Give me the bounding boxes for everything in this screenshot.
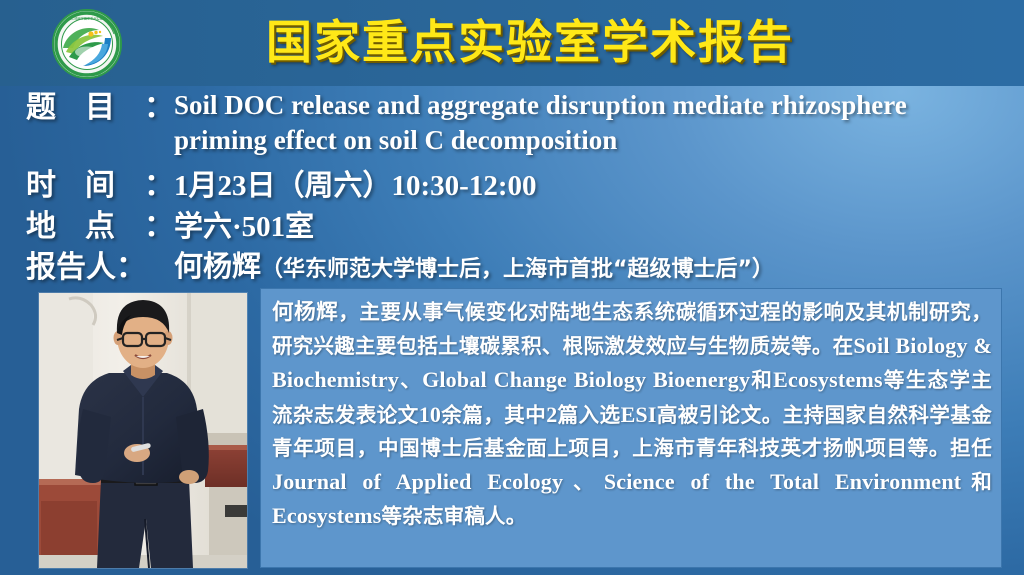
value-place: 学六·501室 — [174, 207, 314, 247]
label-place-colon: ： — [144, 207, 174, 247]
speaker-affiliation: （华东师范大学博士后，上海市首批“超级博士后”） — [261, 257, 774, 282]
label-title-char-2: 目 — [85, 88, 115, 128]
label-title: 题 目 ： — [26, 88, 174, 128]
info-row-place: 地 点 ： 学六·501室 — [26, 207, 314, 247]
label-time-char-2: 间 — [85, 166, 115, 206]
label-speaker-text: 报告人： — [26, 248, 146, 288]
page-title: 国家重点实验室学术报告 — [180, 13, 880, 71]
label-time-colon: ： — [144, 166, 174, 206]
speaker-bio-panel: 何杨辉，主要从事气候变化对陆地生态系统碳循环过程的影响及其机制研究，研究兴趣主要… — [260, 288, 1002, 568]
speaker-photo — [39, 293, 247, 568]
label-time-char-1: 时 — [26, 166, 56, 206]
bio-segment-17: 和 — [961, 470, 992, 494]
bio-segment-3: 、 — [399, 368, 422, 392]
institution-logo-icon: 河口海岸学国家重点实验室 STATE KEY LABORATORY — [51, 8, 123, 80]
bio-segment-14: Journal of Applied Ecology — [272, 469, 563, 494]
seminar-poster: 河口海岸学国家重点实验室 STATE KEY LABORATORY 国家重点实验… — [0, 0, 1024, 575]
value-speaker: 何杨辉（华东师范大学博士后，上海市首批“超级博士后”） — [174, 248, 774, 289]
bio-segment-18: Ecosystems — [272, 503, 382, 528]
bio-segment-16: Science of the Total Environment — [604, 469, 962, 494]
value-talk-title: Soil DOC release and aggregate disruptio… — [174, 88, 1004, 158]
logo-emblem-icon: 河口海岸学国家重点实验室 STATE KEY LABORATORY — [51, 8, 123, 80]
bio-segment-11: 篇入选 — [557, 403, 620, 427]
speaker-photo-image — [39, 293, 247, 568]
bio-segment-19: 等杂志审稿人。 — [382, 504, 527, 528]
bio-segment-10: 2 — [546, 402, 557, 427]
info-row-speaker: 报告人： 何杨辉（华东师范大学博士后，上海市首批“超级博士后”） — [26, 248, 774, 289]
bio-segment-0: 何杨辉 — [272, 300, 338, 325]
bio-segment-15: 、 — [563, 470, 604, 494]
bio-segment-8: 10 — [419, 402, 441, 427]
bio-segment-9: 余篇，其中 — [441, 403, 546, 427]
label-place: 地 点 ： — [26, 207, 174, 247]
bio-segment-6: Ecosystems — [773, 367, 883, 392]
label-place-char-2: 点 — [85, 207, 115, 247]
label-title-colon: ： — [144, 88, 174, 128]
info-row-title: 题 目 ： Soil DOC release and aggregate dis… — [26, 88, 1004, 158]
svg-text:STATE KEY LABORATORY: STATE KEY LABORATORY — [71, 72, 103, 76]
speaker-bio-text: 何杨辉，主要从事气候变化对陆地生态系统碳循环过程的影响及其机制研究，研究兴趣主要… — [272, 296, 992, 533]
label-place-char-1: 地 — [26, 207, 56, 247]
label-title-char-1: 题 — [26, 88, 56, 128]
value-time: 1月23日（周六）10:30-12:00 — [174, 166, 536, 206]
bio-segment-5: 和 — [750, 368, 773, 392]
speaker-name: 何杨辉 — [174, 251, 261, 283]
info-row-time: 时 间 ： 1月23日（周六）10:30-12:00 — [26, 166, 536, 206]
bio-segment-12: ESI — [621, 402, 657, 427]
bio-segment-4: Global Change Biology Bioenergy — [422, 367, 750, 392]
label-speaker: 报告人： — [26, 248, 174, 288]
svg-text:河口海岸学国家重点实验室: 河口海岸学国家重点实验室 — [68, 16, 105, 21]
label-time: 时 间 ： — [26, 166, 174, 206]
